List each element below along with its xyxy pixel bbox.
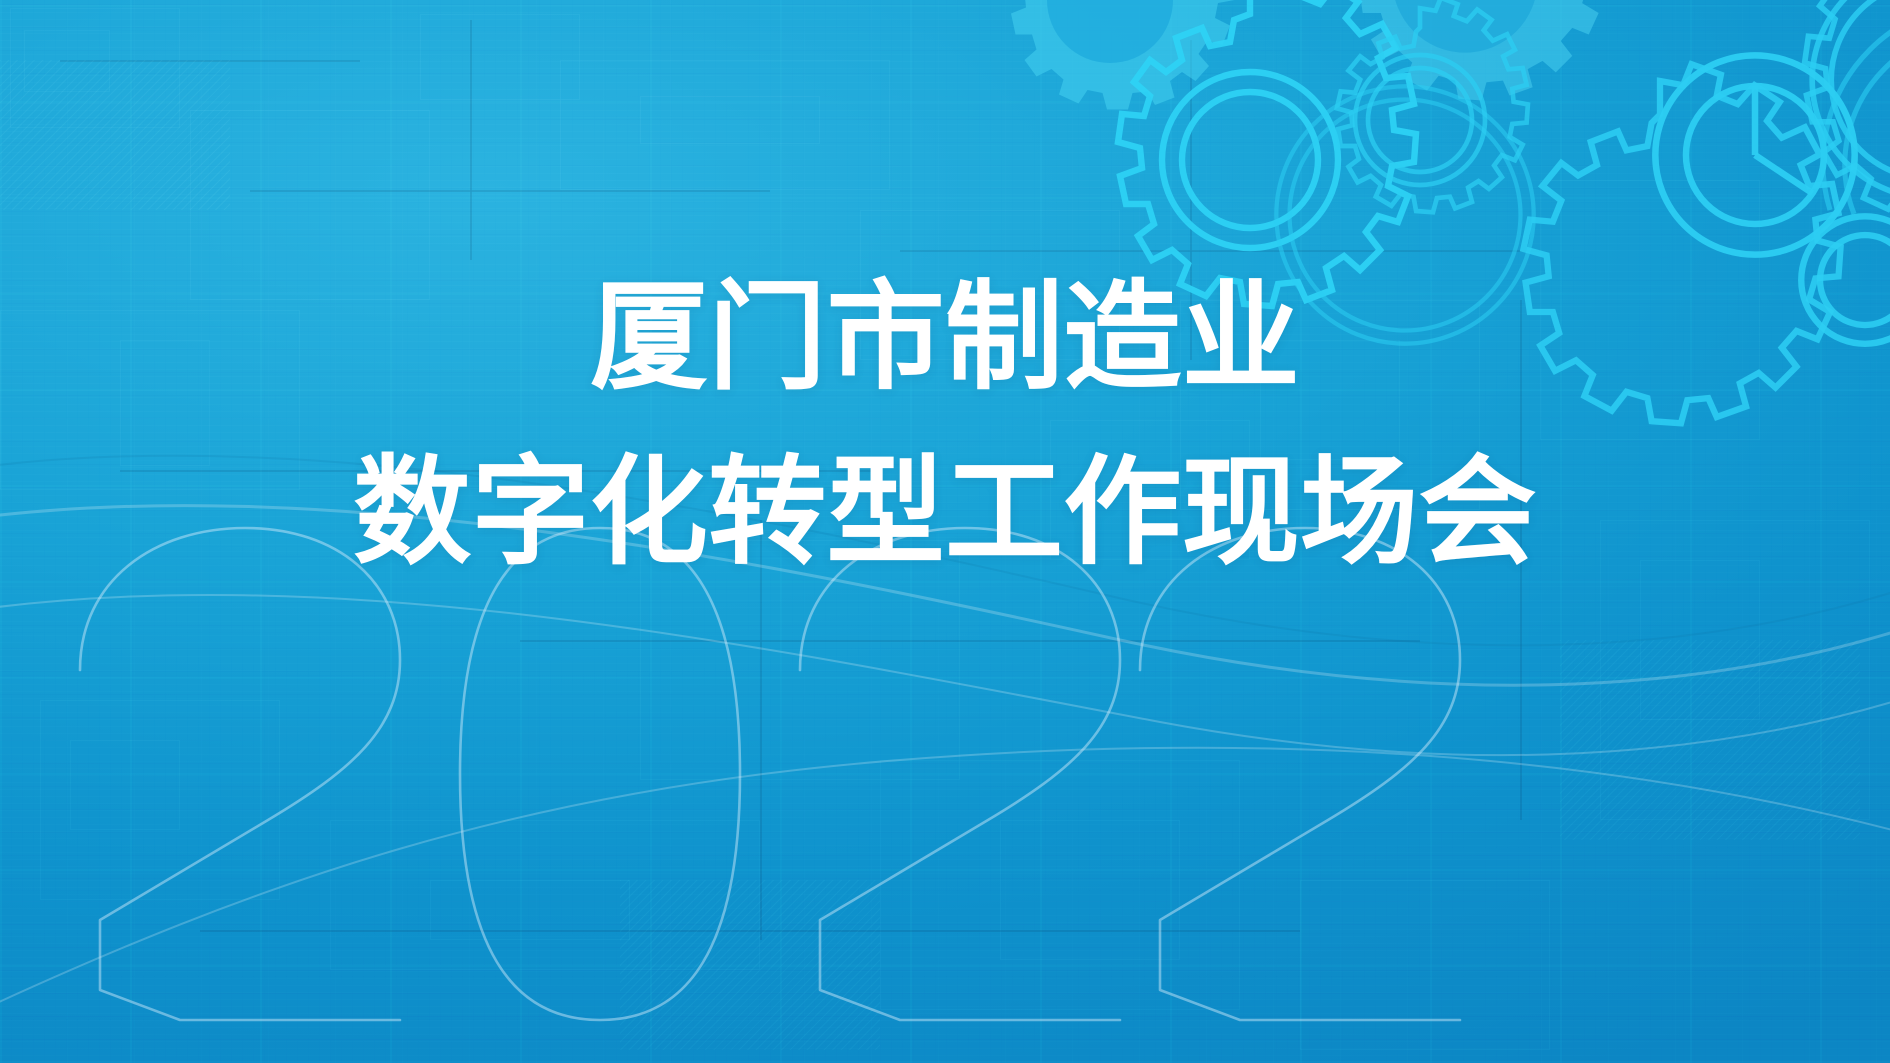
- poster-canvas: 厦门市制造业 数字化转型工作现场会: [0, 0, 1890, 1063]
- year-watermark-2022: [60, 520, 1480, 1063]
- arc-outline-corner-icon: [1770, 0, 1890, 290]
- page-title-line-1: 厦门市制造业: [0, 262, 1890, 415]
- page-title-line-2: 数字化转型工作现场会: [0, 437, 1890, 590]
- page-title: 厦门市制造业 数字化转型工作现场会: [0, 262, 1890, 591]
